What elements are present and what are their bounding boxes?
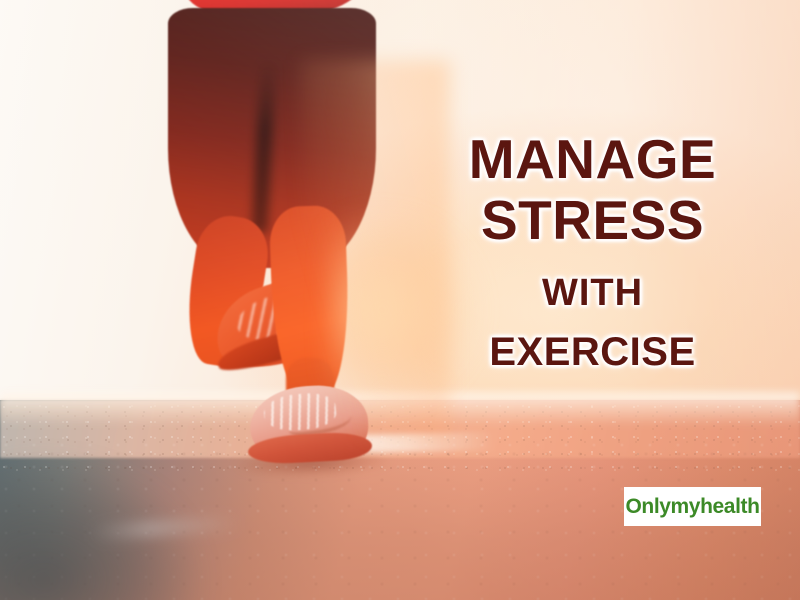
headline-line-3: WITH (395, 274, 790, 312)
headline-line-2: STRESS (395, 193, 790, 248)
headline-block: MANAGE STRESS WITH EXERCISE (395, 132, 790, 372)
headline-line-4: EXERCISE (395, 332, 790, 372)
onlymyhealth-logo[interactable]: Onlymyhealth (624, 487, 761, 526)
headline-line-1: MANAGE (395, 132, 790, 187)
manage-stress-with-exercise-banner: MANAGE STRESS WITH EXERCISE Onlymyhealth (0, 0, 800, 600)
logo-text: Onlymyhealth (625, 496, 759, 517)
